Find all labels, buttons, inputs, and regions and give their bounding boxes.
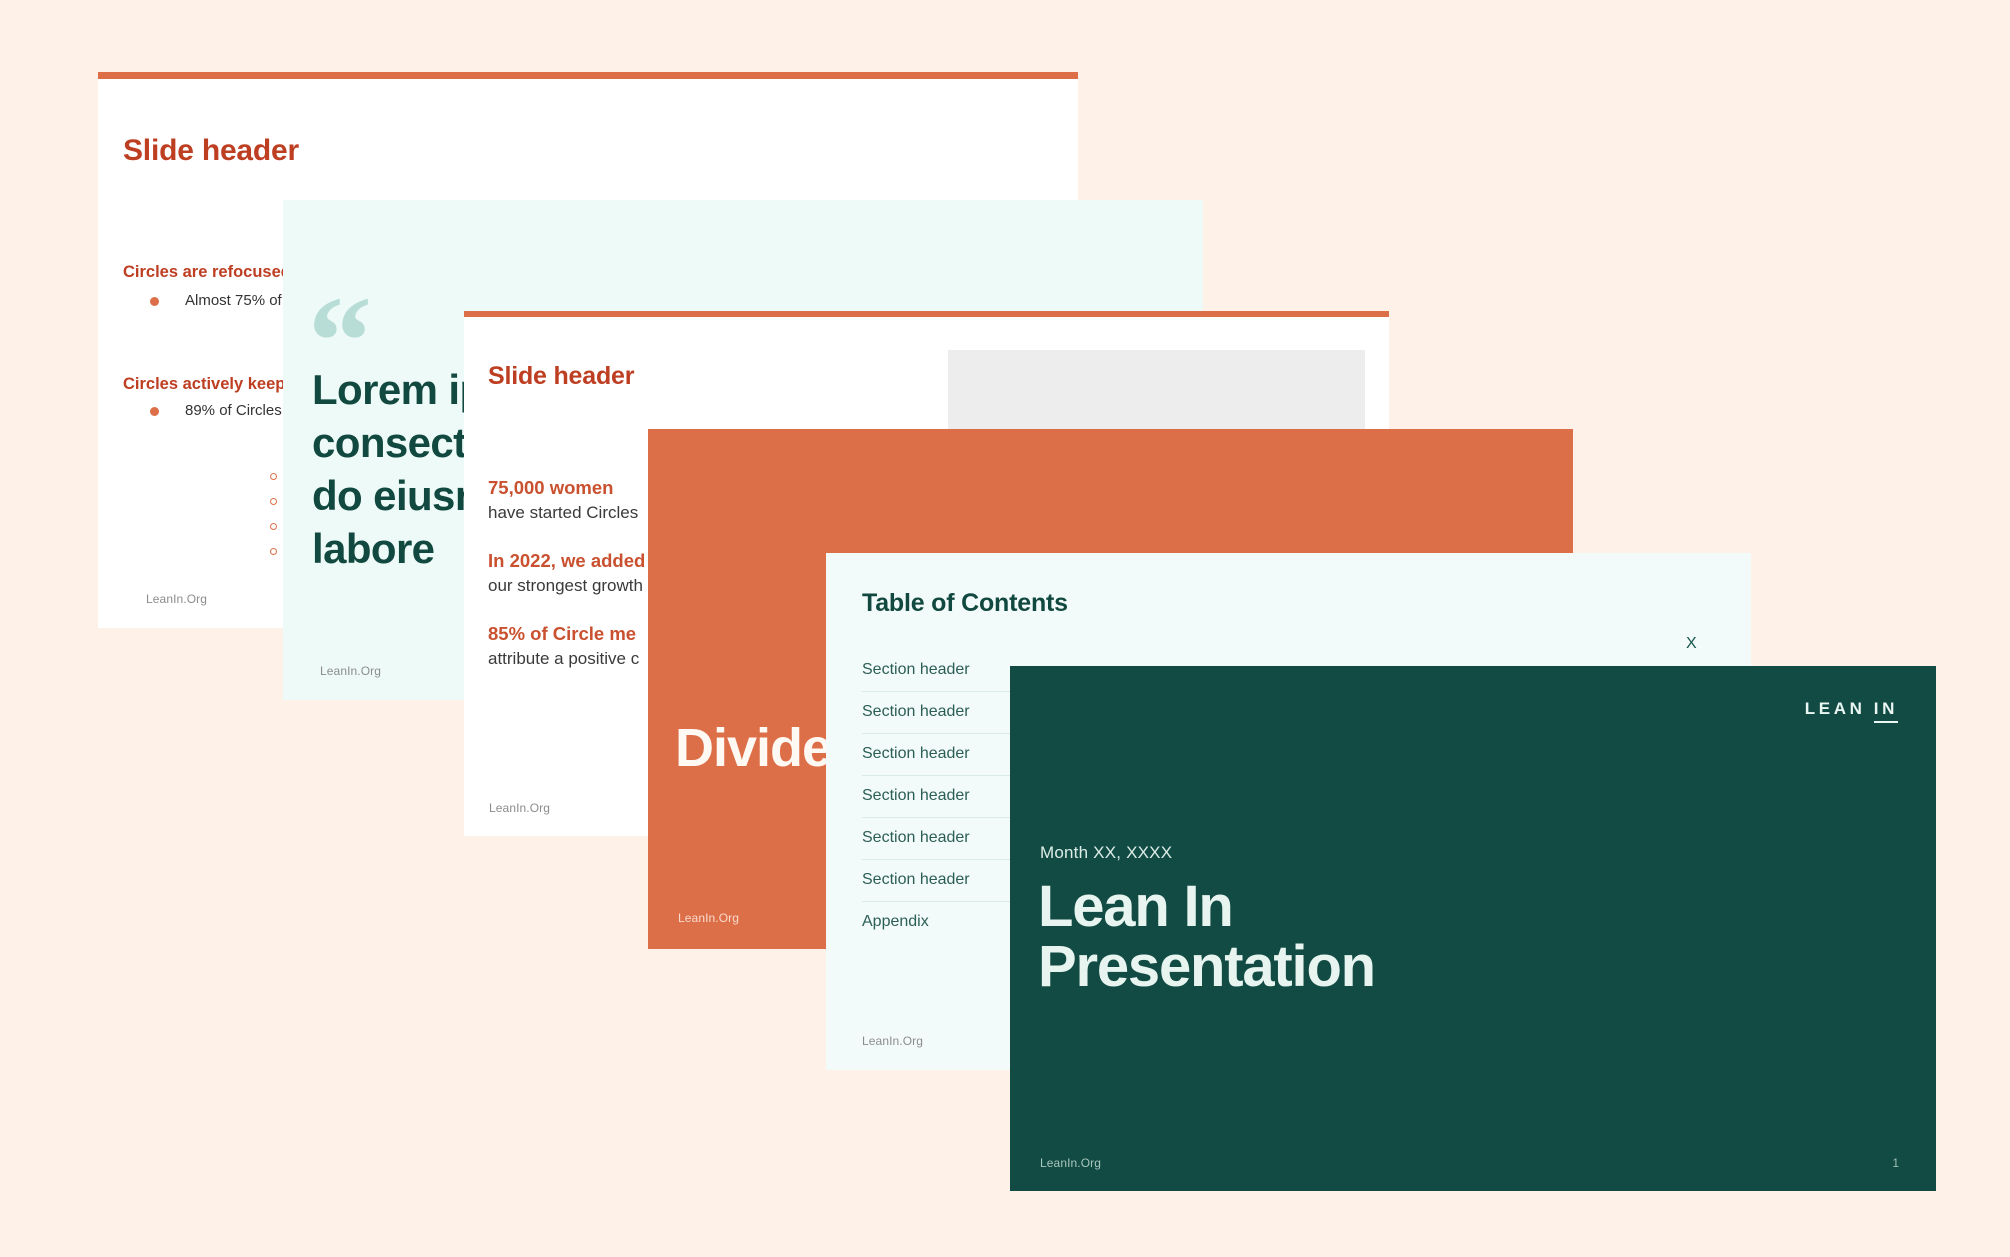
- slide-footer-brand: LeanIn.Org: [862, 1034, 923, 1048]
- presentation-date: Month XX, XXXX: [1040, 843, 1172, 863]
- bullet-ring-icon: [270, 523, 277, 530]
- section-2-title: Circles actively keep i: [123, 375, 295, 394]
- slide-header-title: Slide header: [123, 134, 299, 168]
- close-icon[interactable]: X: [1686, 635, 1697, 653]
- bullet-dot-icon: [150, 407, 159, 416]
- slide-footer-brand: LeanIn.Org: [489, 801, 550, 815]
- presentation-title: Lean In Presentation: [1038, 877, 1375, 997]
- page-number: 1: [1892, 1156, 1899, 1170]
- slide-title-layout[interactable]: LEAN IN Month XX, XXXX Lean In Presentat…: [1010, 666, 1936, 1191]
- lean-in-logo: LEAN IN: [1805, 699, 1898, 719]
- bullet-ring-icon: [270, 548, 277, 555]
- slide-deck-canvas: Slide header Circles are refocused on ca…: [0, 0, 2010, 1257]
- slide-footer-brand: LeanIn.Org: [146, 592, 207, 606]
- bullet-dot-icon: [150, 297, 159, 306]
- divider-title: Divider: [675, 717, 851, 779]
- slide-footer-brand: LeanIn.Org: [678, 911, 739, 925]
- slide-header-title: Slide header: [488, 362, 634, 391]
- slide-footer-brand: LeanIn.Org: [320, 664, 381, 678]
- logo-word-in: IN: [1874, 699, 1898, 723]
- logo-word-lean: LEAN: [1805, 699, 1866, 718]
- presentation-title-line-1: Lean In: [1038, 877, 1375, 937]
- slide-footer-brand: LeanIn.Org: [1040, 1156, 1101, 1170]
- bullet-ring-icon: [270, 473, 277, 480]
- toc-title: Table of Contents: [862, 589, 1068, 618]
- bullet-ring-icon: [270, 498, 277, 505]
- presentation-title-line-2: Presentation: [1038, 937, 1375, 997]
